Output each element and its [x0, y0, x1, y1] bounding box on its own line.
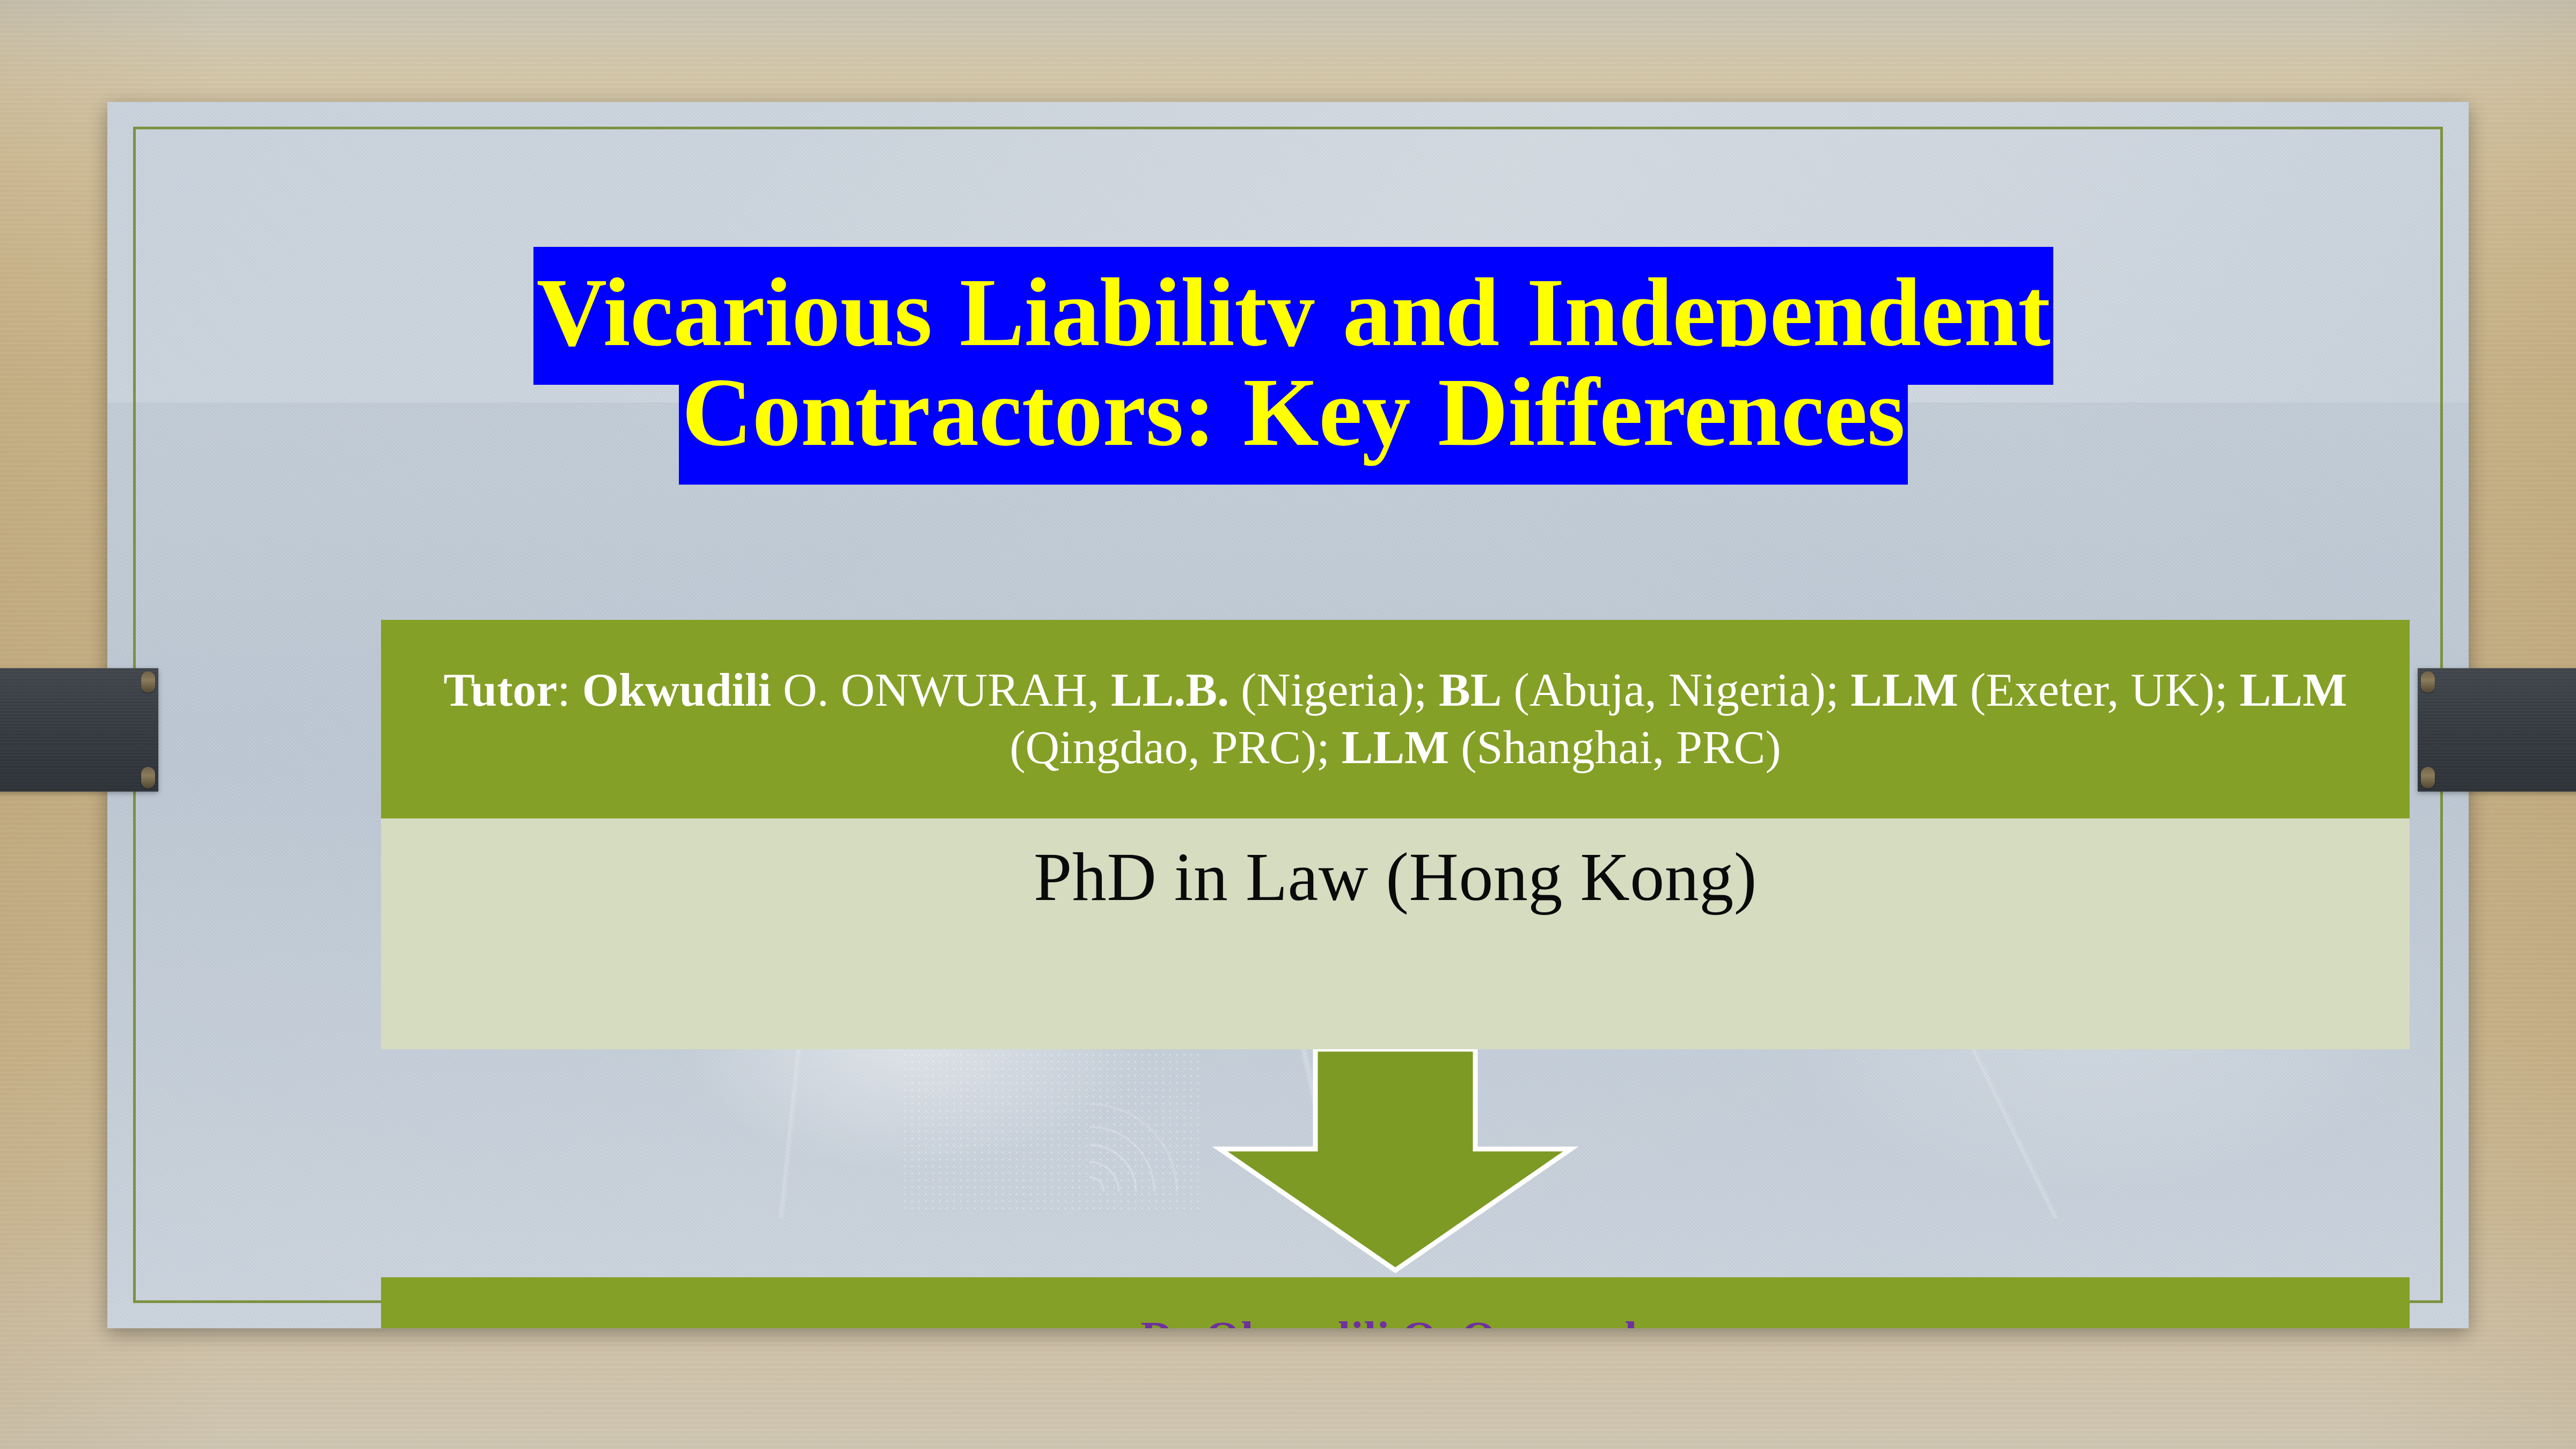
clip-tab-left [0, 668, 158, 792]
degree-panel: PhD in Law (Hong Kong) [381, 818, 2410, 1049]
credentials-box: Tutor: Okwudili O. ONWURAH, LL.B. (Niger… [381, 620, 2410, 818]
credentials-degree-1: LL.B. [1111, 664, 1229, 716]
down-arrow-icon [1210, 1049, 1580, 1275]
credentials-degree-4: LLM [2240, 664, 2347, 716]
clip-pin-right-bottom [2421, 767, 2435, 788]
degree-text: PhD in Law (Hong Kong) [381, 838, 2410, 917]
clip-pin-right-top [2421, 671, 2435, 693]
author-name: Dr Okwudili O. Onwurah [1140, 1312, 1650, 1328]
credentials-degree-5: LLM [1342, 722, 1449, 774]
clip-pin-left-bottom [141, 767, 155, 788]
credentials-surname: O. ONWURAH, [771, 664, 1111, 716]
credentials-text: Tutor: Okwudili O. ONWURAH, LL.B. (Niger… [402, 662, 2388, 777]
credentials-first-name: Okwudili [582, 664, 771, 716]
author-bar: Dr Okwudili O. Onwurah [381, 1277, 2410, 1328]
credentials-tutor-label: Tutor [443, 664, 557, 716]
slide-title: Vicarious Liability and IndependentContr… [338, 263, 2249, 462]
credentials-degree-3: LLM [1850, 664, 1958, 716]
credentials-degree-2-detail: (Abuja, Nigeria); [1502, 664, 1850, 716]
credentials-degree-4-detail: (Qingdao, PRC); [1009, 722, 1341, 774]
credentials-separator: : [557, 664, 582, 716]
clip-pin-left-top [141, 671, 155, 693]
clip-tab-right [2418, 668, 2576, 792]
credentials-degree-3-detail: (Exeter, UK); [1958, 664, 2240, 716]
title-text: Vicarious Liability and IndependentContr… [338, 263, 2249, 462]
presentation-slide: Vicarious Liability and IndependentContr… [107, 102, 2469, 1328]
title-line-2: Contractors: Key Differences [679, 347, 1908, 485]
credentials-degree-5-detail: (Shanghai, PRC) [1449, 722, 1781, 774]
desk-backdrop: Vicarious Liability and IndependentContr… [0, 0, 2576, 1449]
credentials-degree-2: BL [1439, 664, 1502, 716]
credentials-degree-1-detail: (Nigeria); [1229, 664, 1439, 716]
